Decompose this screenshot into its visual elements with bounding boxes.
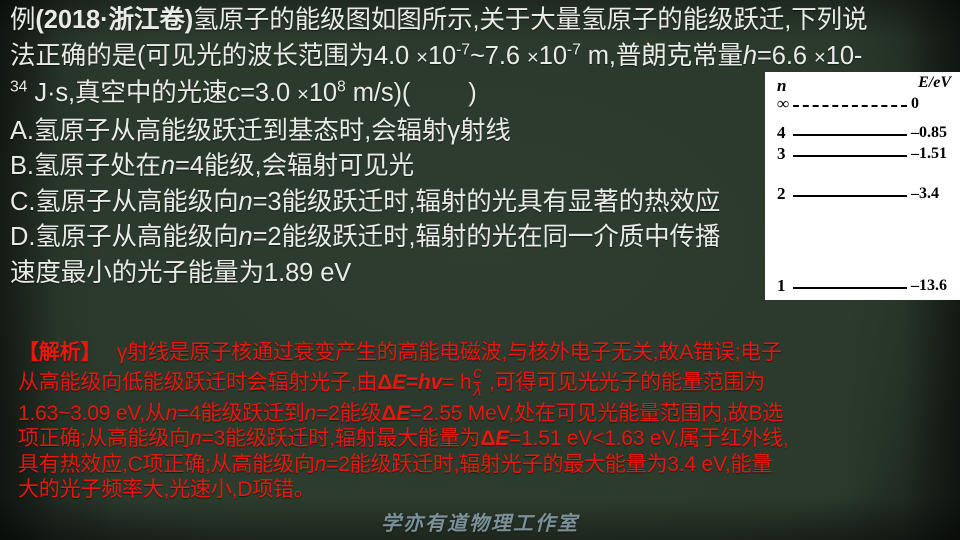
question-stem-line-2-part-9: h [743, 42, 757, 70]
question-option-line-5-part-0: 速度最小的光子能量为1.89 eV [10, 259, 351, 287]
explanation-line-2-part-5: = h [442, 371, 471, 394]
energy-level-n-label-5: 1 [777, 276, 786, 296]
explanation-line-3-part-6: E [396, 402, 410, 425]
energy-level-n-label-1: ∞ [777, 94, 789, 114]
explanation-line-2-fraction-numerator: c [473, 365, 481, 382]
explanation-line-2-fraction: cλ [473, 365, 481, 400]
explanation-line-4-part-3: Δ [480, 427, 495, 450]
question-stem-line-1-part-0: 例 [10, 6, 35, 34]
explanation-line-3-part-2: =4能级跃迁到 [177, 402, 305, 425]
question-stem-line-2-part-5: × [527, 47, 539, 69]
diagram-n-axis-label: n [777, 76, 786, 96]
explanation-line-3: 1.63~3.09 eV,从n=4能级跃迁到n=2能级ΔE=2.55 MeV,处… [18, 401, 950, 427]
question-stem-line-2-part-2: 10 [428, 42, 456, 70]
question-option-line-2-part-2: =4能级,会辐射可见光 [175, 152, 414, 180]
explanation-line-3-part-7: =2.55 MeV,处在可见光能量范围内,故B选 [410, 402, 783, 425]
diagram-energy-axis-label: E/eV [918, 74, 951, 92]
energy-level-n-label-3: 3 [777, 144, 786, 164]
question-option-line-3[interactable]: C.氢原子从高能级向n=3能级跃迁时,辐射的光具有显著的热效应 [10, 185, 810, 221]
question-stem-line-3-part-7: m/s)( [346, 79, 411, 107]
energy-level-value-3: –1.51 [911, 145, 947, 163]
explanation-line-2-fraction-denominator: λ [473, 382, 481, 400]
question-stem-line-2-part-1: × [416, 47, 428, 69]
question-stem-line-2-part-0: 法正确的是(可见光的波长范围为4.0 [10, 42, 416, 70]
question-option-line-2[interactable]: B.氢原子处在n=4能级,会辐射可见光 [10, 149, 810, 185]
question-stem-line-3-part-4: × [297, 84, 309, 106]
question-stem-line-2-part-8: m,普朗克常量 [581, 42, 743, 70]
slide-canvas: 例(2018·浙江卷)氢原子的能级图如图所示,关于大量氢原子的能级跃迁,下列说法… [0, 0, 960, 540]
explanation-line-2-part-3: = [406, 371, 418, 394]
question-stem-line-2-part-3: -7 [456, 41, 470, 58]
question-stem-line-2-part-6: 10 [539, 42, 567, 70]
question-stem-line-2: 法正确的是(可见光的波长范围为4.0 ×10-7~7.6 ×10-7 m,普朗克… [10, 39, 810, 77]
question-stem-line-2-part-7: -7 [567, 41, 581, 58]
energy-level-diagram: n E/eV ∞04–0.853–1.512–3.41–13.6 [765, 72, 960, 300]
explanation-line-2-part-2: E [392, 371, 406, 394]
explanation-line-1-part-0: 【解析】 [18, 341, 101, 364]
question-option-line-1-part-0: A.氢原子从高能级跃迁到基态时,会辐射γ射线 [10, 117, 511, 145]
explanation-line-4-part-5: =1.51 eV<1.63 eV,属于红外线, [509, 427, 788, 450]
energy-level-line-2 [793, 134, 907, 136]
explanation-line-2-part-7: ,可得可见光光子的能量范围为 [483, 371, 765, 394]
question-option-line-2-part-0: B.氢原子处在 [10, 152, 161, 180]
energy-level-n-label-2: 4 [777, 123, 786, 143]
explanation-line-4-part-2: =3能级跃迁时,辐射最大能量为 [202, 427, 481, 450]
explanation-line-5-part-2: =2能级跃迁时,辐射光子的最大能量为3.4 eV,能量 [326, 453, 772, 476]
question-stem-line-1: 例(2018·浙江卷)氢原子的能级图如图所示,关于大量氢原子的能级跃迁,下列说 [10, 3, 810, 39]
explanation-line-3-part-1: n [166, 402, 177, 425]
energy-level-line-4 [793, 195, 907, 197]
question-stem-line-1-part-1: (2018·浙江卷) [35, 6, 193, 34]
energy-level-value-5: –13.6 [911, 277, 947, 295]
question-stem-line-2-part-10: =6.6 [757, 42, 814, 70]
question-stem-line-3-part-9: ) [468, 79, 476, 107]
question-stem-line-3-part-1: J·s,真空中的光速 [27, 79, 227, 107]
energy-level-value-1: 0 [911, 95, 919, 113]
explanation-line-2: 从高能级向低能级跃迁时会辐射光子,由ΔE=hv= hcλ ,可得可见光光子的能量… [18, 366, 950, 401]
explanation-line-5: 具有热效应,C项正确;从高能级向n=2能级跃迁时,辐射光子的最大能量为3.4 e… [18, 452, 950, 478]
explanation-line-3-part-3: n [305, 402, 316, 425]
question-stem-line-3-part-6: 8 [337, 79, 346, 96]
question-option-line-3-part-0: C.氢原子从高能级向 [10, 188, 239, 216]
question-option-line-4-part-0: D.氢原子从高能级向 [10, 223, 239, 251]
energy-level-value-4: –3.4 [911, 185, 939, 203]
question-option-line-5[interactable]: 速度最小的光子能量为1.89 eV [10, 256, 810, 292]
question-stem-line-3-part-2: c [227, 79, 240, 107]
energy-level-line-1 [793, 105, 907, 107]
question-option-line-1[interactable]: A.氢原子从高能级跃迁到基态时,会辐射γ射线 [10, 114, 810, 150]
question-stem-line-3-part-0: 34 [10, 79, 27, 96]
explanation-line-4-part-0: 项正确;从高能级向 [18, 427, 190, 450]
explanation-line-3-part-5: Δ [381, 402, 396, 425]
explanation-line-5-part-1: n [315, 453, 326, 476]
question-stem-line-3-part-5: 10 [309, 79, 337, 107]
question-block: 例(2018·浙江卷)氢原子的能级图如图所示,关于大量氢原子的能级跃迁,下列说法… [10, 3, 810, 291]
question-option-line-3-part-1: n [239, 188, 253, 216]
question-stem-line-2-part-12: 10 [826, 42, 854, 70]
explanation-line-2-part-4: hv [418, 371, 442, 394]
explanation-line-3-part-0: 1.63~3.09 eV,从 [18, 402, 166, 425]
explanation-line-1: 【解析】 γ射线是原子核通过衰变产生的高能电磁波,与核外电子无关,故A错误;电子 [18, 340, 950, 366]
explanation-line-1-part-1: γ射线是原子核通过衰变产生的高能电磁波,与核外电子无关,故A错误;电子 [111, 341, 782, 364]
explanation-line-4-part-4: E [495, 427, 509, 450]
question-stem-line-3-part-3: =3.0 [240, 79, 297, 107]
question-stem-line-2-part-13: - [854, 42, 862, 70]
question-option-line-2-part-1: n [161, 152, 175, 180]
energy-level-line-3 [793, 155, 907, 157]
energy-level-value-2: –0.85 [911, 124, 947, 142]
explanation-line-6-part-0: 大的光子频率大,光速小,D项错。 [18, 478, 315, 501]
explanation-line-5-part-0: 具有热效应,C项正确;从高能级向 [18, 453, 315, 476]
question-stem-line-2-part-4: ~7.6 [470, 42, 527, 70]
question-option-line-4[interactable]: D.氢原子从高能级向n=2能级跃迁时,辐射的光在同一介质中传播 [10, 220, 810, 256]
watermark: 学亦有道物理工作室 [0, 507, 960, 536]
question-stem-line-1-part-2: 氢原子的能级图如图所示,关于大量氢原子的能级跃迁,下列说 [193, 6, 867, 34]
question-stem-line-3: 34 J·s,真空中的光速c=3.0 ×108 m/s)() [10, 76, 810, 114]
question-option-line-4-part-2: =2能级跃迁时,辐射的光在同一介质中传播 [253, 223, 721, 251]
explanation-block: 【解析】 γ射线是原子核通过衰变产生的高能电磁波,与核外电子无关,故A错误;电子… [18, 340, 950, 503]
explanation-line-3-part-4: =2能级 [316, 402, 381, 425]
explanation-line-2-part-0: 从高能级向低能级跃迁时会辐射光子,由 [18, 371, 377, 394]
explanation-line-2-part-1: Δ [377, 371, 392, 394]
energy-level-n-label-4: 2 [777, 184, 786, 204]
question-option-line-3-part-2: =3能级跃迁时,辐射的光具有显著的热效应 [253, 188, 721, 216]
explanation-line-4: 项正确;从高能级向n=3能级跃迁时,辐射最大能量为ΔE=1.51 eV<1.63… [18, 426, 950, 452]
explanation-line-6: 大的光子频率大,光速小,D项错。 [18, 477, 950, 503]
question-option-line-4-part-1: n [239, 223, 253, 251]
question-stem-line-2-part-11: × [814, 47, 826, 69]
explanation-line-4-part-1: n [190, 427, 201, 450]
energy-level-line-5 [793, 287, 907, 289]
